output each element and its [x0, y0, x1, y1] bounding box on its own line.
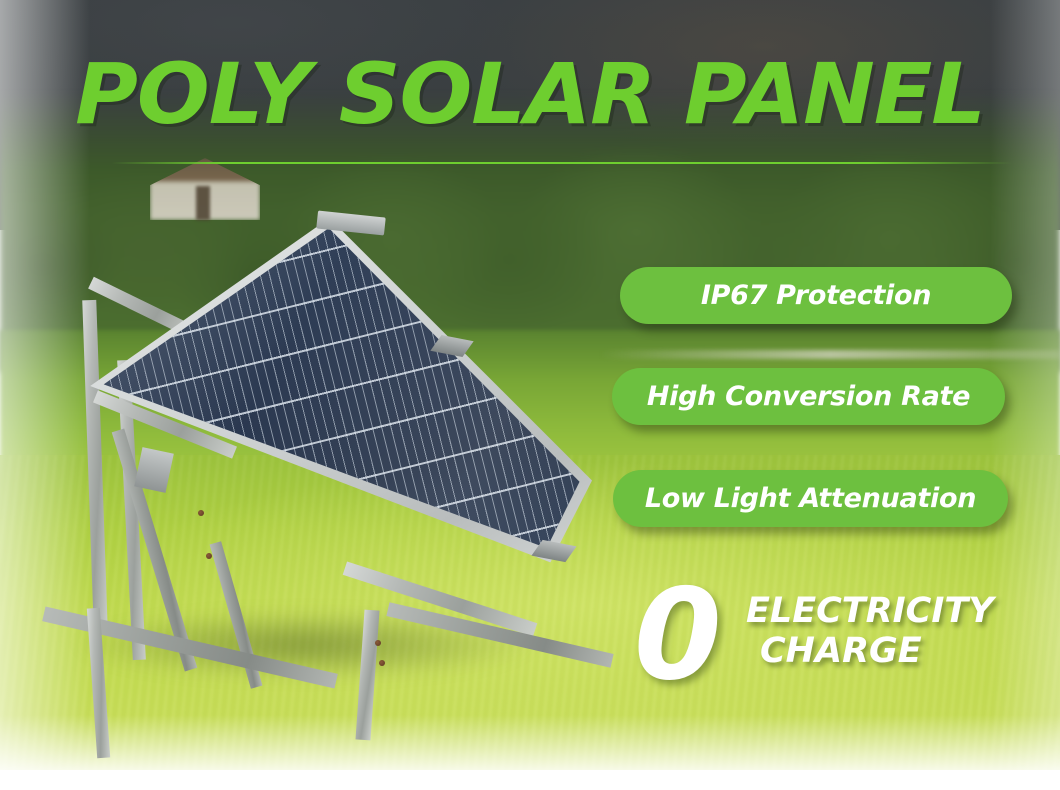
- mount-bolt: [375, 640, 381, 646]
- page-title: POLY SOLAR PANEL: [0, 52, 1060, 136]
- feature-pill-low-light-attenuation[interactable]: Low Light Attenuation: [613, 470, 1008, 527]
- zero-charge-callout: 0 ELECTRICITY CHARGE: [634, 578, 1014, 690]
- panel-glass-sheen: [72, 218, 592, 638]
- bottom-white-strip: [0, 770, 1060, 790]
- solar-panel-product: [30, 210, 600, 700]
- panel-clamp-left: [134, 447, 174, 493]
- charge-text: ELECTRICITY CHARGE: [746, 592, 994, 671]
- charge-text-line1: ELECTRICITY: [746, 592, 994, 632]
- feature-pill-ip67[interactable]: IP67 Protection: [620, 267, 1012, 324]
- mount-bolt: [206, 553, 212, 559]
- promo-banner: POLY SOLAR PANEL IP67 Protection High Co…: [0, 0, 1060, 790]
- title-divider-rule: [112, 162, 1012, 164]
- zero-digit: 0: [634, 572, 722, 698]
- mount-bolt: [379, 660, 385, 666]
- charge-text-line2: CHARGE: [746, 632, 994, 672]
- feature-pill-conversion-rate[interactable]: High Conversion Rate: [612, 368, 1005, 425]
- mount-bolt: [198, 510, 204, 516]
- mount-post-left: [82, 300, 108, 630]
